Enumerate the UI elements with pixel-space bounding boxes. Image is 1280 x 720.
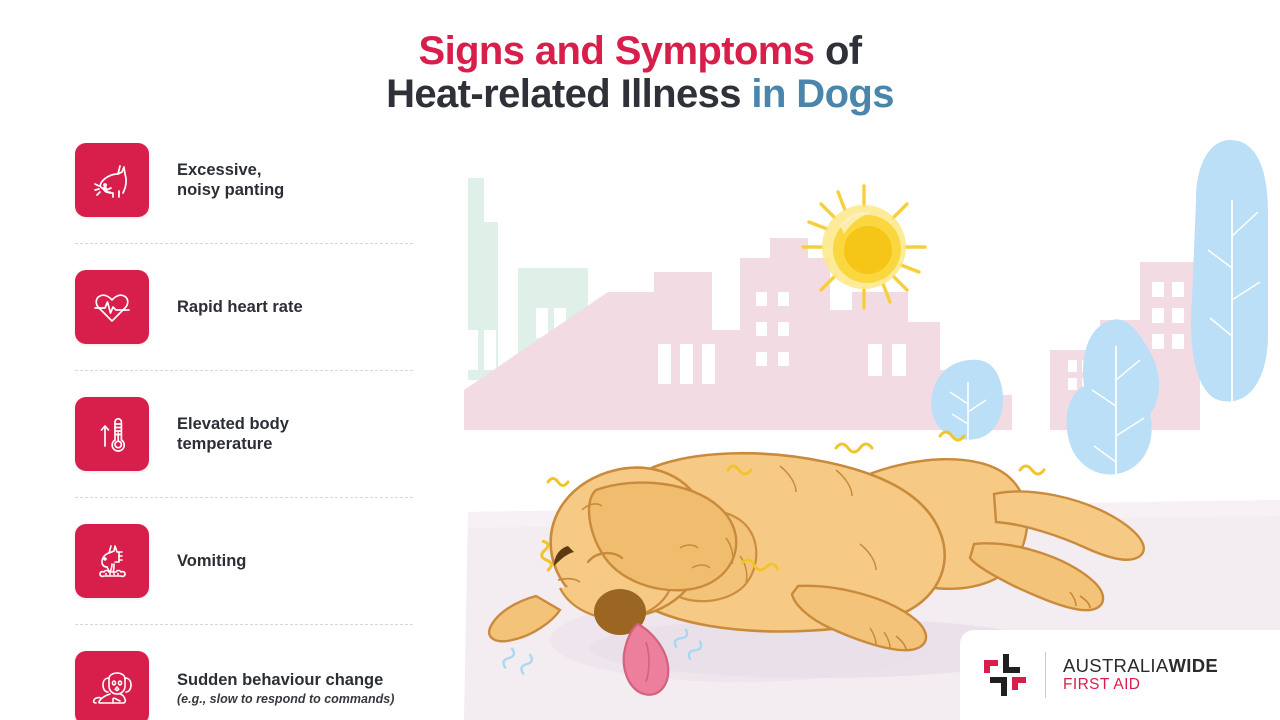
sun-icon bbox=[803, 186, 925, 308]
logo-wordmark: AUSTRALIAWIDE FIRST AID bbox=[1063, 655, 1218, 695]
list-item[interactable]: Elevated body temperature bbox=[75, 384, 435, 484]
dog-heatstroke-illustration bbox=[440, 0, 1280, 720]
symptom-list: Excessive, noisy panting Rapid heart rat… bbox=[75, 130, 435, 720]
thermometer-up-icon bbox=[75, 397, 149, 471]
list-item-text: Sudden behaviour change (e.g., slow to r… bbox=[177, 670, 394, 706]
dog-lying-icon bbox=[75, 651, 149, 720]
list-divider bbox=[75, 624, 413, 625]
list-divider bbox=[75, 243, 413, 244]
logo-line-2: FIRST AID bbox=[1063, 676, 1218, 695]
list-item-text: Excessive, noisy panting bbox=[177, 160, 284, 200]
heart-rate-icon bbox=[75, 270, 149, 344]
list-item[interactable]: Excessive, noisy panting bbox=[75, 130, 435, 230]
list-item[interactable]: Vomiting bbox=[75, 511, 435, 611]
trees bbox=[931, 140, 1268, 490]
list-item-subtext: (e.g., slow to respond to commands) bbox=[177, 692, 394, 706]
dog-vomiting-icon bbox=[75, 524, 149, 598]
logo-divider bbox=[1045, 652, 1046, 698]
list-item-text: Rapid heart rate bbox=[177, 297, 303, 317]
list-divider bbox=[75, 497, 413, 498]
logo-line-1: AUSTRALIAWIDE bbox=[1063, 655, 1218, 676]
australia-wide-cross-logo bbox=[982, 652, 1028, 698]
list-item[interactable]: Rapid heart rate bbox=[75, 257, 435, 357]
list-item-label: Sudden behaviour change bbox=[177, 670, 394, 690]
list-item-label: Excessive, noisy panting bbox=[177, 160, 284, 200]
dog-panting-icon bbox=[75, 143, 149, 217]
list-item-label: Elevated body temperature bbox=[177, 414, 289, 454]
list-item-label: Vomiting bbox=[177, 551, 246, 571]
list-item-text: Vomiting bbox=[177, 551, 246, 571]
logo-australia: AUSTRALIA bbox=[1063, 655, 1169, 676]
list-divider bbox=[75, 370, 413, 371]
logo-wide: WIDE bbox=[1169, 655, 1219, 676]
list-item-label: Rapid heart rate bbox=[177, 297, 303, 317]
list-item[interactable]: Sudden behaviour change (e.g., slow to r… bbox=[75, 638, 435, 720]
list-item-text: Elevated body temperature bbox=[177, 414, 289, 454]
infographic-page: Signs and Symptoms of Heat-related Illne… bbox=[0, 0, 1280, 720]
australia-wide-first-aid-logo: AUSTRALIAWIDE FIRST AID bbox=[960, 630, 1280, 720]
